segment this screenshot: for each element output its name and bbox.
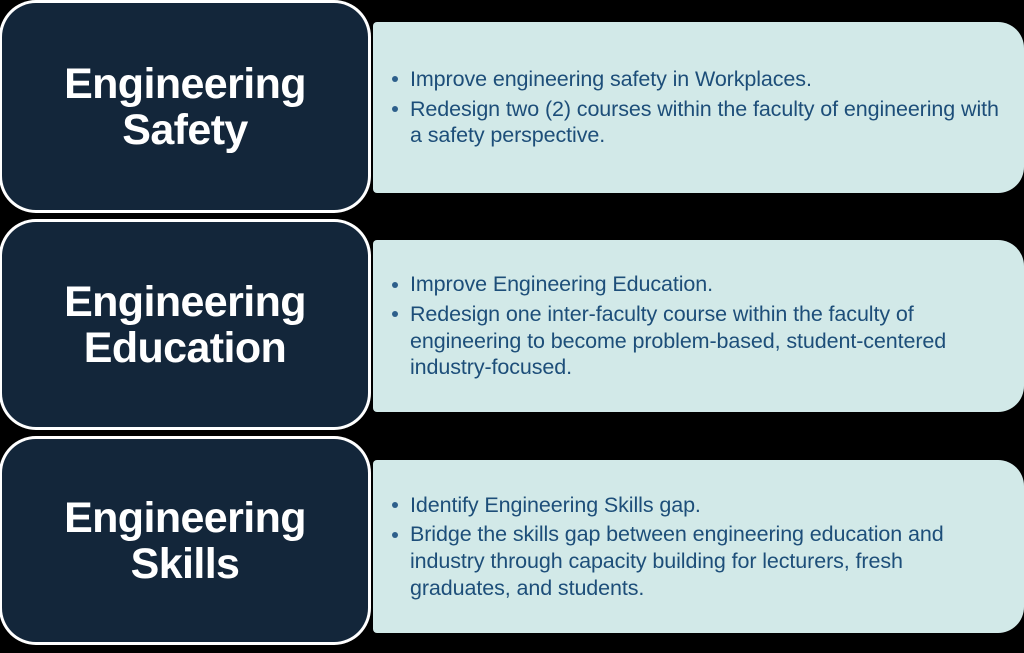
details-panel-engineering-skills: Identify Engineering Skills gap. Bridge … <box>373 460 1024 633</box>
bullet-dot-icon <box>392 106 398 112</box>
details-panel-engineering-safety: Improve engineering safety in Workplaces… <box>373 22 1024 193</box>
list-item: Redesign two (2) courses within the facu… <box>389 96 1006 149</box>
bullet-list: Identify Engineering Skills gap. Bridge … <box>373 492 1024 602</box>
card-title: Engineering Safety <box>50 61 320 153</box>
bullet-text: Identify Engineering Skills gap. <box>410 493 701 517</box>
list-item: Improve engineering safety in Workplaces… <box>389 66 1006 93</box>
details-panel-engineering-education: Improve Engineering Education. Redesign … <box>373 240 1024 412</box>
bullet-list: Improve Engineering Education. Redesign … <box>373 271 1024 381</box>
bullet-dot-icon <box>392 502 398 508</box>
bullet-dot-icon <box>392 282 398 288</box>
bullet-text: Improve engineering safety in Workplaces… <box>410 67 812 91</box>
list-item: Identify Engineering Skills gap. <box>389 492 1006 519</box>
list-item: Improve Engineering Education. <box>389 271 1006 298</box>
title-card-engineering-skills: Engineering Skills <box>2 439 368 642</box>
bullet-list: Improve engineering safety in Workplaces… <box>373 66 1024 149</box>
list-item: Redesign one inter-faculty course within… <box>389 301 1006 381</box>
card-title: Engineering Skills <box>50 495 320 587</box>
bullet-dot-icon <box>392 532 398 538</box>
list-item: Bridge the skills gap between engineerin… <box>389 521 1006 601</box>
bullet-text: Redesign one inter-faculty course within… <box>410 302 946 379</box>
card-title: Engineering Education <box>50 279 320 371</box>
title-card-engineering-education: Engineering Education <box>2 222 368 427</box>
bullet-text: Bridge the skills gap between engineerin… <box>410 522 944 599</box>
infographic-canvas: Improve engineering safety in Workplaces… <box>0 0 1024 653</box>
bullet-text: Redesign two (2) courses within the facu… <box>410 97 999 148</box>
bullet-dot-icon <box>392 311 398 317</box>
title-card-engineering-safety: Engineering Safety <box>2 3 368 210</box>
bullet-dot-icon <box>392 76 398 82</box>
bullet-text: Improve Engineering Education. <box>410 272 713 296</box>
